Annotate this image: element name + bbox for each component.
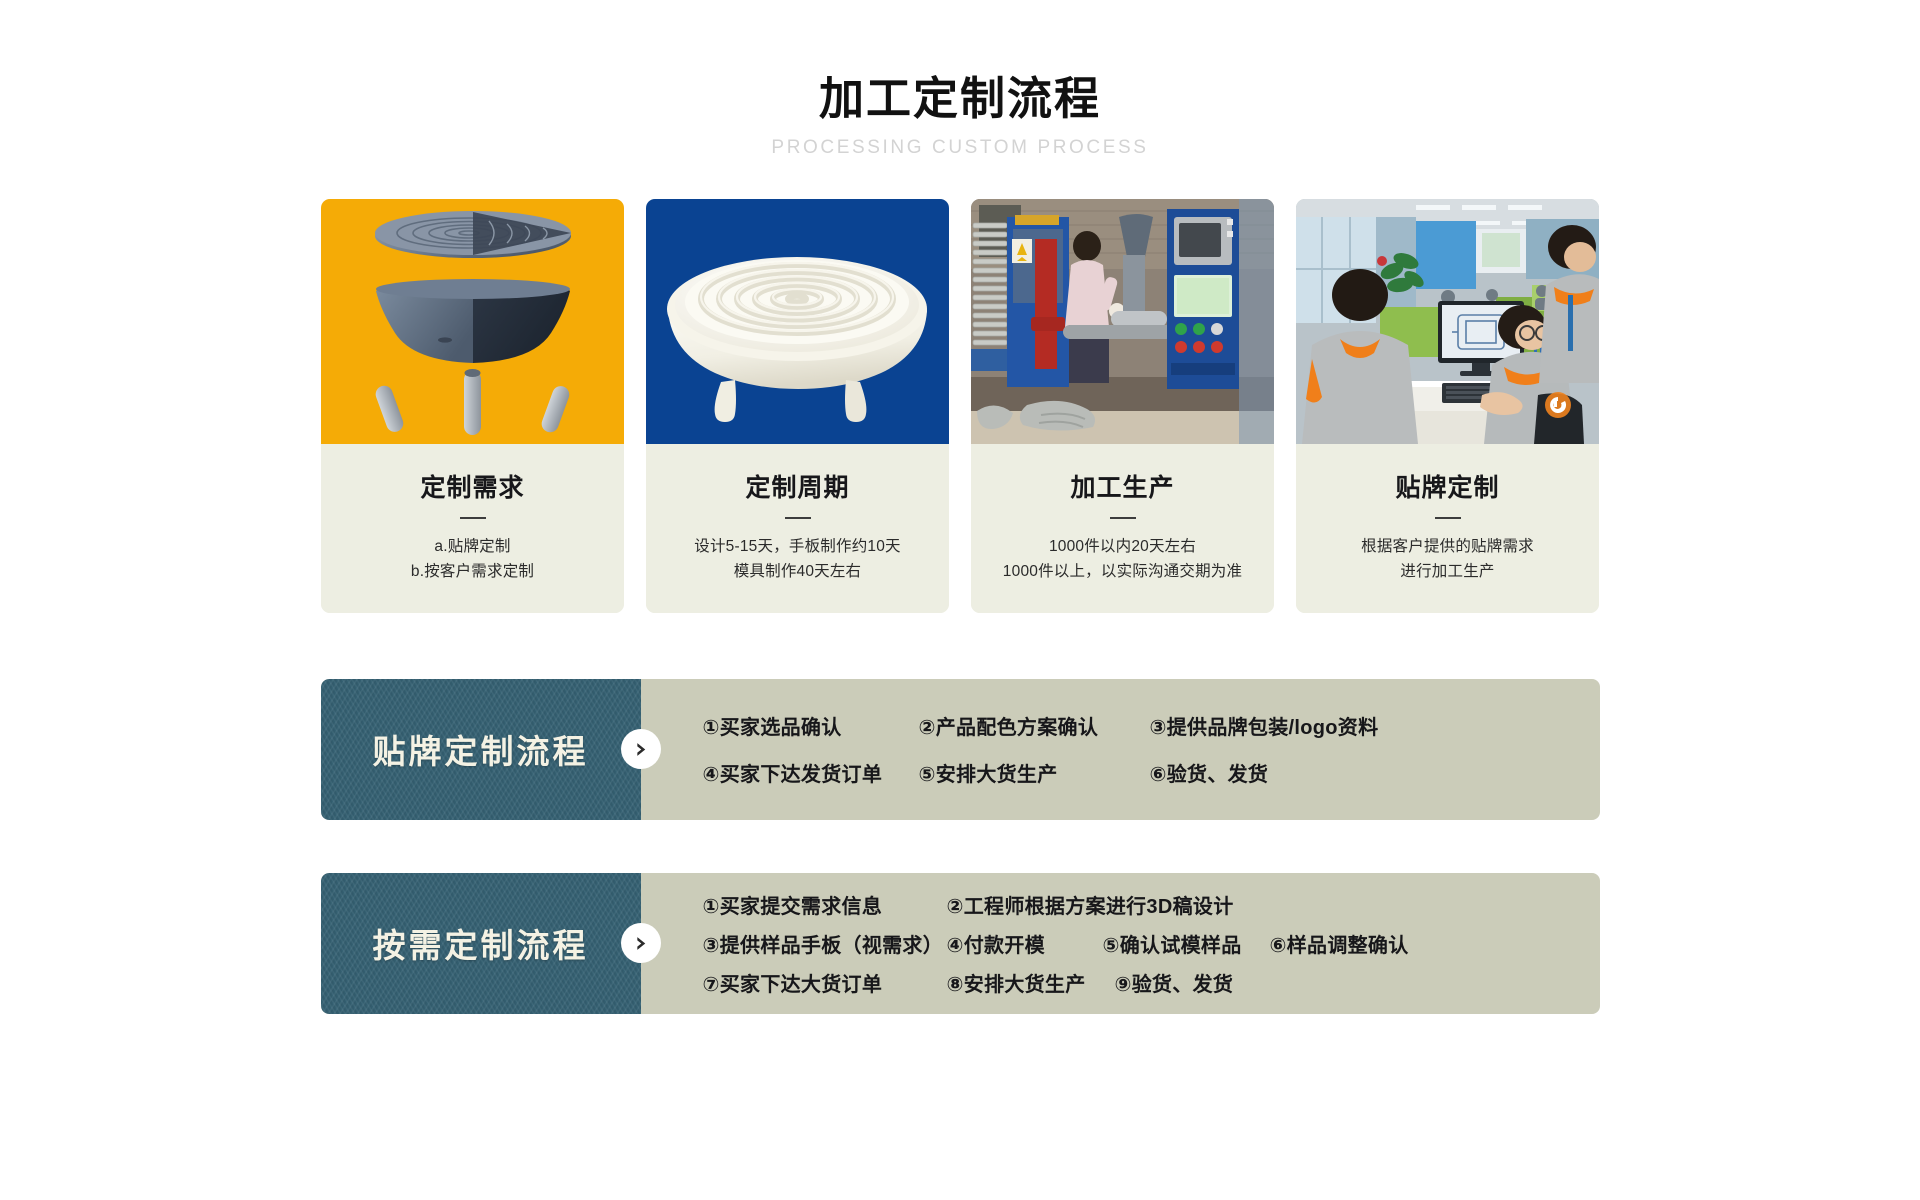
ondemand-step-8: ⑧安排大货生产 (947, 968, 1115, 997)
oem-step-6: ⑥验货、发货 (1150, 758, 1269, 787)
chevron-right-icon[interactable] (621, 729, 661, 769)
process-card-1[interactable]: 定制需求 a.贴牌定制 b.按客户需求定制 (321, 199, 624, 613)
processing-custom-process-page: 加工定制流程 PROCESSING CUSTOM PROCESS (0, 0, 1920, 1200)
ondemand-step-1: ①买家提交需求信息 (703, 890, 947, 919)
ondemand-process-banner-label-text: 按需定制流程 (373, 919, 589, 967)
oem-process-steps: ①买家选品确认 ②产品配色方案确认 ③提供品牌包装/logo资料 ④买家下达发货… (641, 679, 1600, 820)
process-card-4-line-2: 进行加工生产 (1308, 559, 1587, 585)
process-card-4-body: 贴牌定制 根据客户提供的贴牌需求 进行加工生产 (1296, 444, 1599, 613)
factory-injection-machine-photo (971, 199, 1274, 444)
ondemand-step-6: ⑥样品调整确认 (1270, 929, 1409, 958)
design-office-team-photo (1296, 199, 1599, 444)
ondemand-step-7: ⑦买家下达大货订单 (703, 968, 947, 997)
page-title: 加工定制流程 (0, 74, 1920, 124)
oem-step-3: ③提供品牌包装/logo资料 (1150, 711, 1379, 740)
oem-step-1: ①买家选品确认 (703, 711, 919, 740)
process-card-3-title: 加工生产 (983, 468, 1262, 504)
title-divider (785, 517, 811, 519)
ondemand-step-5: ⑤确认试模样品 (1103, 929, 1270, 958)
process-card-4-line-1: 根据客户提供的贴牌需求 (1308, 534, 1587, 560)
ondemand-step-row-2: ③提供样品手板（视需求） ④付款开模 ⑤确认试模样品 ⑥样品调整确认 (703, 929, 1600, 958)
process-card-1-line-1: a.贴牌定制 (333, 534, 612, 560)
page-subtitle: PROCESSING CUSTOM PROCESS (0, 137, 1920, 159)
title-divider (1110, 517, 1136, 519)
process-card-1-title: 定制需求 (333, 468, 612, 504)
process-card-2[interactable]: 定制周期 设计5-15天，手板制作约10天 模具制作40天左右 (646, 199, 949, 613)
process-card-3[interactable]: 加工生产 1000件以内20天左右 1000件以上，以实际沟通交期为准 (971, 199, 1274, 613)
process-card-2-body: 定制周期 设计5-15天，手板制作约10天 模具制作40天左右 (646, 444, 949, 613)
ondemand-step-row-3: ⑦买家下达大货订单 ⑧安排大货生产 ⑨验货、发货 (703, 968, 1600, 997)
ondemand-process-banner-label: 按需定制流程 (321, 873, 641, 1014)
process-card-2-line-1: 设计5-15天，手板制作约10天 (658, 534, 937, 560)
ondemand-step-9: ⑨验货、发货 (1115, 968, 1234, 997)
chevron-right-icon[interactable] (621, 923, 661, 963)
process-card-4[interactable]: 贴牌定制 根据客户提供的贴牌需求 进行加工生产 (1296, 199, 1599, 613)
ondemand-step-row-1: ①买家提交需求信息 ②工程师根据方案进行3D稿设计 (703, 890, 1600, 919)
white-prototype-sample-image (646, 199, 949, 444)
oem-process-banner: 贴牌定制流程 ①买家选品确认 ②产品配色方案确认 ③提供品牌包装/logo资料 … (321, 679, 1600, 820)
process-card-4-title: 贴牌定制 (1308, 468, 1587, 504)
ondemand-step-4: ④付款开模 (947, 929, 1103, 958)
process-card-3-line-2: 1000件以上，以实际沟通交期为准 (983, 559, 1262, 585)
process-card-row: 定制需求 a.贴牌定制 b.按客户需求定制 (0, 199, 1920, 613)
title-divider (1435, 517, 1461, 519)
process-card-2-line-2: 模具制作40天左右 (658, 559, 937, 585)
oem-step-row-2: ④买家下达发货订单 ⑤安排大货生产 ⑥验货、发货 (703, 758, 1600, 787)
process-card-1-line-2: b.按客户需求定制 (333, 559, 612, 585)
ondemand-step-3: ③提供样品手板（视需求） (703, 929, 947, 958)
oem-step-5: ⑤安排大货生产 (919, 758, 1150, 787)
oem-process-banner-label-text: 贴牌定制流程 (373, 725, 589, 773)
process-card-2-title: 定制周期 (658, 468, 937, 504)
process-card-3-line-1: 1000件以内20天左右 (983, 534, 1262, 560)
ondemand-step-2: ②工程师根据方案进行3D稿设计 (947, 890, 1234, 919)
oem-step-2: ②产品配色方案确认 (919, 711, 1150, 740)
grill-exploded-view-image (321, 199, 624, 444)
oem-step-4: ④买家下达发货订单 (703, 758, 919, 787)
process-card-3-body: 加工生产 1000件以内20天左右 1000件以上，以实际沟通交期为准 (971, 444, 1274, 613)
oem-step-row-1: ①买家选品确认 ②产品配色方案确认 ③提供品牌包装/logo资料 (703, 711, 1600, 740)
page-header: 加工定制流程 PROCESSING CUSTOM PROCESS (0, 0, 1920, 159)
title-divider (460, 517, 486, 519)
ondemand-process-banner: 按需定制流程 ①买家提交需求信息 ②工程师根据方案进行3D稿设计 ③提供样品手板… (321, 873, 1600, 1014)
oem-process-banner-label: 贴牌定制流程 (321, 679, 641, 820)
process-card-1-body: 定制需求 a.贴牌定制 b.按客户需求定制 (321, 444, 624, 613)
ondemand-process-steps: ①买家提交需求信息 ②工程师根据方案进行3D稿设计 ③提供样品手板（视需求） ④… (641, 873, 1600, 1014)
